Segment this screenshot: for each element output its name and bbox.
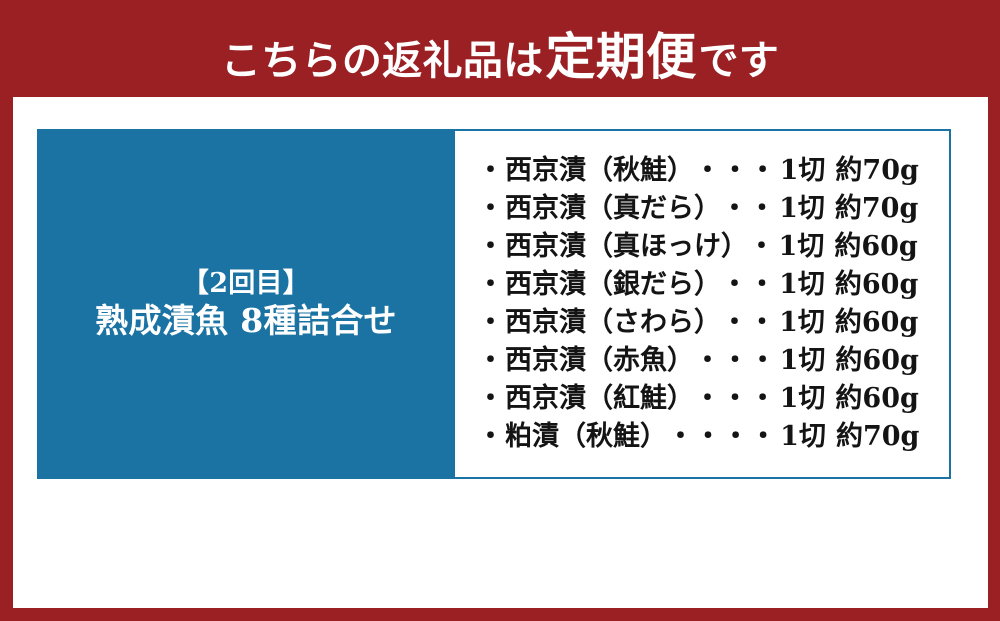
spec-item-weight: 約60g — [835, 380, 918, 418]
card-title-line2: 熟成漬魚 8種詰合せ — [95, 300, 397, 341]
header-headline: こちらの返礼品は 定期便 です — [221, 17, 779, 89]
header-prefix-text: こちらの返礼品は — [221, 28, 544, 86]
spec-item-weight: 約60g — [835, 304, 918, 342]
spec-item-weight: 約70g — [835, 152, 918, 190]
spec-item-leader: ・・ — [721, 304, 776, 342]
spec-list-item: ・ 西京漬（銀だら） ・・ 1切 約60g — [477, 266, 949, 304]
spec-item-qty: 1切 — [779, 266, 825, 304]
spec-item-name: 西京漬（赤魚） — [505, 342, 694, 380]
spec-item-weight: 約60g — [835, 266, 918, 304]
spec-item-qty: 1切 — [779, 228, 825, 266]
spec-item-weight: 約70g — [835, 190, 918, 228]
spec-list: ・ 西京漬（秋鮭） ・・・ 1切 約70g ・ 西京漬（真だら） ・・ 1切 約… — [477, 152, 949, 456]
spec-item-qty: 1切 — [780, 418, 826, 456]
spec-item-qty: 1切 — [779, 190, 825, 228]
bullet-icon: ・ — [477, 228, 504, 266]
product-spec-banner: こちらの返礼品は 定期便 です 【2回目】 熟成漬魚 8種詰合せ — [0, 0, 1000, 621]
spec-item-leader: ・・ — [721, 266, 776, 304]
header-text-container: こちらの返礼品は 定期便 です — [0, 0, 1000, 97]
bullet-icon: ・ — [477, 266, 504, 304]
bullet-icon: ・ — [477, 418, 504, 456]
spec-list-item: ・ 西京漬（秋鮭） ・・・ 1切 約70g — [477, 152, 949, 190]
bullet-icon: ・ — [477, 190, 504, 228]
header-emphasis-label: 定期便 — [545, 28, 696, 86]
frame-bottom-border — [0, 608, 1000, 621]
bullet-icon: ・ — [477, 380, 504, 418]
header-emphasis-text: 定期便 — [543, 17, 698, 89]
card-title-panel: 【2回目】 熟成漬魚 8種詰合せ — [37, 129, 455, 479]
spec-item-leader: ・・ — [721, 190, 776, 228]
spec-item-qty: 1切 — [780, 342, 826, 380]
spec-item-name: 西京漬（さわら） — [505, 304, 721, 342]
spec-list-item: ・ 西京漬（赤魚） ・・・ 1切 約60g — [477, 342, 949, 380]
spec-item-name: 西京漬（銀だら） — [505, 266, 721, 304]
spec-item-name: 西京漬（秋鮭） — [505, 152, 694, 190]
spec-list-item: ・ 西京漬（真だら） ・・ 1切 約70g — [477, 190, 949, 228]
spec-item-leader: ・・・ — [694, 380, 777, 418]
spec-item-name: 西京漬（紅鮭） — [505, 380, 694, 418]
spec-item-weight: 約60g — [834, 228, 917, 266]
spec-list-item: ・ 西京漬（さわら） ・・ 1切 約60g — [477, 304, 949, 342]
spec-item-weight: 約70g — [836, 418, 919, 456]
spec-item-leader: ・・・・ — [667, 418, 777, 456]
spec-list-item: ・ 西京漬（真ほっけ） ・ 1切 約60g — [477, 228, 949, 266]
spec-item-qty: 1切 — [780, 152, 826, 190]
spec-item-leader: ・ — [748, 228, 776, 266]
header-suffix-text: です — [698, 28, 779, 86]
spec-item-name: 西京漬（真だら） — [505, 190, 721, 228]
spec-item-name: 西京漬（真ほっけ） — [505, 228, 748, 266]
spec-item-qty: 1切 — [779, 304, 825, 342]
bullet-icon: ・ — [477, 342, 504, 380]
spec-item-weight: 約60g — [835, 342, 918, 380]
card-title-line1: 【2回目】 — [182, 267, 310, 301]
spec-item-leader: ・・・ — [694, 152, 777, 190]
bullet-icon: ・ — [477, 304, 504, 342]
content-area: 【2回目】 熟成漬魚 8種詰合せ ・ 西京漬（秋鮭） ・・・ 1切 約70g ・… — [13, 97, 988, 608]
bullet-icon: ・ — [477, 152, 504, 190]
card-spec-panel: ・ 西京漬（秋鮭） ・・・ 1切 約70g ・ 西京漬（真だら） ・・ 1切 約… — [455, 129, 951, 479]
spec-item-name: 粕漬（秋鮭） — [505, 418, 667, 456]
spec-list-item: ・ 西京漬（紅鮭） ・・・ 1切 約60g — [477, 380, 949, 418]
spec-card: 【2回目】 熟成漬魚 8種詰合せ ・ 西京漬（秋鮭） ・・・ 1切 約70g ・… — [37, 129, 951, 479]
spec-list-item: ・ 粕漬（秋鮭） ・・・・ 1切 約70g — [477, 418, 949, 456]
spec-item-leader: ・・・ — [694, 342, 777, 380]
spec-item-qty: 1切 — [780, 380, 826, 418]
